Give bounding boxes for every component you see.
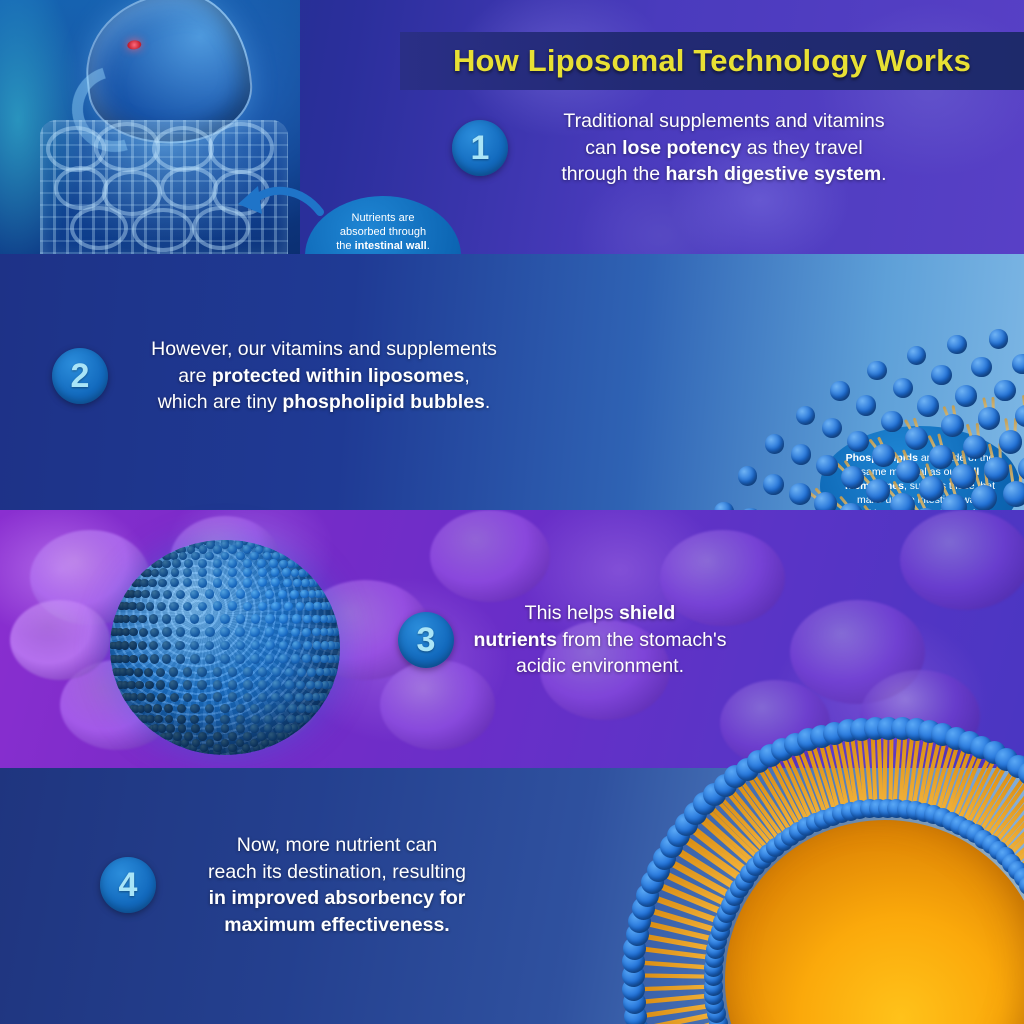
liposome-bead (138, 641, 147, 650)
callout-intestinal-wall-text: Nutrients areabsorbed throughthe intesti… (336, 211, 430, 254)
phospholipid-head (947, 335, 966, 354)
liposome-bead (205, 654, 215, 664)
liposome-bead (170, 693, 179, 702)
callout-intestinal-wall: Nutrients areabsorbed throughthe intesti… (305, 196, 461, 254)
liposome-bead (251, 641, 261, 651)
liposome-bead (162, 641, 171, 650)
liposome-bead (300, 590, 309, 599)
phospholipid-head (822, 418, 843, 439)
liposome-bead (213, 732, 222, 741)
liposome-bead (129, 628, 138, 637)
liposome-bead (213, 559, 222, 568)
liposome-bead (312, 655, 321, 664)
liposome-bead (301, 579, 309, 587)
liposome-bead (129, 655, 138, 664)
liposome-bead (272, 667, 281, 676)
blood-cell (10, 600, 110, 680)
liposome-bead (228, 692, 237, 701)
liposome-bead (302, 628, 311, 637)
liposome-bead (176, 627, 185, 636)
liposome-bead (295, 715, 303, 723)
liposome-bead (264, 724, 273, 733)
liposome-bead (183, 680, 192, 689)
liposome-bead (265, 654, 275, 664)
liposome-bead (258, 602, 267, 611)
liposome-bead (205, 552, 214, 561)
phospholipid-head (1003, 481, 1024, 507)
liposome-bead (183, 667, 193, 677)
phospholipid-head (847, 431, 869, 453)
liposome-bead (169, 680, 178, 689)
liposome-bead (134, 668, 143, 677)
liposome-bead (183, 693, 192, 702)
phospholipid-head (929, 445, 953, 469)
liposome-bead (278, 627, 287, 636)
liposome-bead (243, 578, 252, 587)
phospholipid-head (765, 434, 784, 453)
liposome-bead (312, 615, 321, 624)
blood-cell (430, 510, 550, 602)
liposome-bead (268, 732, 276, 740)
liposome-bead (178, 724, 187, 733)
liposome-bead (304, 693, 313, 702)
liposome-bead (271, 602, 280, 611)
liposome-bead (220, 654, 230, 664)
liposome-bead (293, 579, 302, 588)
phospholipid-head (872, 444, 895, 467)
liposome-bead (228, 667, 238, 677)
liposome-bead (277, 715, 286, 724)
liposome-bead (287, 715, 295, 723)
liposome-bead (213, 744, 221, 752)
liposome-bead (283, 579, 292, 588)
liposome-bead (184, 559, 193, 568)
liposome-bead (176, 654, 186, 664)
liposome-bead (321, 641, 330, 650)
liposome-bead (236, 614, 246, 624)
liposome-bead (257, 559, 266, 568)
liposome-bead (235, 627, 245, 637)
liposome-bead (135, 681, 144, 690)
liposome-bead (284, 693, 293, 702)
liposome-bead (264, 715, 273, 724)
liposome-bead (243, 559, 252, 568)
liposome-bead (282, 568, 291, 577)
liposome-bead (190, 641, 200, 651)
liposome-bead (220, 704, 229, 713)
phospholipid-head (971, 357, 992, 378)
phospholipid-head (856, 395, 877, 416)
liposome-bead (158, 724, 166, 732)
liposome-bead (146, 693, 155, 702)
liposome-bead (190, 704, 199, 713)
liposome-bead (291, 628, 300, 637)
phospholipid-head (999, 430, 1023, 454)
liposome-bead (258, 680, 267, 689)
liposome-bead (149, 614, 158, 623)
liposome-bead (243, 667, 253, 677)
liposome-bead (228, 559, 237, 568)
liposome-bead (306, 681, 315, 690)
liposome-bead (213, 680, 223, 690)
liposome-bead (175, 641, 185, 651)
liposome-bead (150, 628, 159, 637)
liposome-bead (205, 715, 214, 724)
liposome-bead (156, 680, 165, 689)
phospholipid-tail (639, 974, 713, 979)
liposome-bead (198, 559, 207, 568)
liposome-bead (228, 601, 238, 611)
liposome-bead (156, 668, 165, 677)
phospholipid-head (881, 411, 903, 433)
liposome-bead (205, 724, 214, 733)
liposome-bead (264, 704, 273, 713)
liposome-bead (236, 641, 246, 651)
liposome-bead (121, 641, 130, 650)
step-4-number: 4 (100, 857, 156, 913)
phospholipid-head (917, 395, 939, 417)
liposome-sphere-illustration (110, 540, 340, 755)
liposome-bead (198, 693, 207, 702)
step-1-text: Traditional supplements and vitaminscan … (526, 108, 922, 188)
step-4: 4 Now, more nutrient canreach its destin… (100, 832, 500, 938)
liposome-bead (236, 724, 245, 733)
phospholipid-head (893, 378, 914, 399)
liposome-bead (198, 578, 207, 587)
liposome-bead (277, 704, 286, 713)
liposome-bead (297, 668, 306, 677)
liposome-bead (169, 667, 178, 676)
liposome-bead (163, 590, 172, 599)
phospholipid-head (931, 365, 952, 386)
phospholipid-head (867, 361, 886, 380)
liposome-bead (243, 732, 252, 741)
phospholipid-head (984, 457, 1009, 482)
liposome-bead (236, 715, 245, 724)
liposome-bead (279, 614, 288, 623)
phospholipid-head (907, 346, 926, 365)
liposome-bead (250, 704, 259, 713)
liposome-bead (165, 715, 174, 724)
liposome-bead (190, 614, 200, 624)
liposome-bead (213, 601, 223, 611)
liposome-bead (288, 704, 297, 713)
liposome-bead (220, 641, 230, 651)
liposome-bead (258, 568, 267, 577)
liposome-bead (190, 590, 199, 599)
liposome-bead (228, 578, 237, 587)
liposome-bead (162, 654, 171, 663)
phospholipid-head (740, 508, 761, 510)
liposome-bead (158, 579, 167, 588)
liposome-bead (169, 602, 178, 611)
liposome-bead (284, 724, 292, 732)
liposome-bead (198, 568, 207, 577)
liposome-bead (138, 615, 147, 624)
liposome-bead (157, 602, 166, 611)
liposome-bead (166, 724, 174, 732)
liposome-bead (265, 627, 274, 636)
liposome-bead (228, 732, 237, 741)
liposome-bead (275, 724, 283, 732)
phospholipid-head (830, 381, 849, 400)
liposome-bead (213, 692, 222, 701)
step-1-number: 1 (452, 120, 508, 176)
liposome-bead (298, 704, 306, 712)
blood-cell (900, 510, 1024, 610)
liposome-bead (205, 641, 215, 651)
liposome-bead (149, 641, 158, 650)
phospholipid-head (714, 502, 733, 510)
step-3-number: 3 (398, 612, 454, 668)
liposome-bead (236, 589, 245, 598)
liposome-bead (177, 704, 186, 713)
liposome-bead (184, 732, 192, 740)
liposome-bead (243, 693, 252, 702)
liposome-bead (303, 615, 312, 624)
liposome-bead (251, 715, 260, 724)
phospholipid-head (971, 485, 997, 510)
liposome-bead (162, 614, 171, 623)
phospholipid-tail (639, 984, 713, 991)
liposome-bead (279, 560, 287, 568)
liposome-bead (213, 545, 221, 553)
liposome-bead (228, 744, 236, 752)
phospholipid-head (963, 435, 987, 459)
liposome-bead (213, 568, 222, 577)
liposome-bead (314, 681, 322, 689)
step-2-text: However, our vitamins and supplementsare… (126, 336, 522, 416)
liposome-bead (295, 693, 304, 702)
liposome-bead (220, 589, 229, 598)
liposome-bead (139, 628, 148, 637)
liposome-bead (192, 739, 200, 747)
liposome-bead (287, 560, 295, 568)
liposome-bead (265, 641, 275, 651)
liposome-bead (228, 680, 238, 690)
phospholipid-head (978, 407, 1001, 430)
liposome-bead (157, 693, 166, 702)
step-2-number: 2 (52, 348, 108, 404)
liposome-bead (159, 568, 168, 577)
liposome-bead (183, 602, 192, 611)
phospholipid-head (796, 406, 815, 425)
phospholipid-head (989, 329, 1008, 348)
liposome-bead (176, 590, 185, 599)
liposome-bead (153, 704, 162, 713)
liposome-bead (307, 668, 316, 677)
step-3-text: This helps shieldnutrients from the stom… (472, 600, 728, 680)
liposome-bead (205, 614, 215, 624)
liposome-bead (144, 668, 153, 677)
liposome-bead (198, 602, 207, 611)
phospholipid-head (890, 493, 915, 510)
liposome-bead (250, 627, 260, 637)
absorption-arrow-icon (232, 182, 324, 230)
liposome-bead (302, 654, 311, 663)
phospholipid-head (951, 464, 976, 489)
page-title-bar: How Liposomal Technology Works (400, 32, 1024, 90)
liposome-bead (250, 552, 258, 560)
liposome-bead (190, 715, 199, 724)
liposome-bead (271, 578, 280, 587)
liposome-bead (164, 704, 173, 713)
phospholipid-head (738, 466, 757, 485)
liposome-bead (279, 641, 288, 650)
liposome-bead (290, 590, 299, 599)
liposome-bead (183, 578, 192, 587)
liposome-cross-section-illustration (520, 690, 1024, 1024)
liposome-bead (137, 693, 146, 702)
liposome-bead (284, 602, 293, 611)
liposome-bead (265, 614, 274, 623)
phospholipid-head (763, 474, 784, 495)
liposome-bead (205, 627, 215, 637)
liposome-bead (251, 614, 261, 624)
liposome-bead (170, 578, 179, 587)
phospholipid-tail (639, 960, 713, 969)
liposome-bead (173, 732, 181, 740)
liposome-bead (141, 590, 150, 599)
liposome-bead (162, 560, 170, 568)
liposome-bead (220, 614, 230, 624)
liposome-bead (285, 680, 294, 689)
liposome-bead (228, 568, 237, 577)
phospholipid-head (941, 414, 964, 437)
phospholipid-head (866, 479, 890, 503)
liposome-bead (220, 715, 229, 724)
liposome-bead (269, 559, 278, 568)
liposome-bead (251, 590, 260, 599)
liposome-bead (258, 693, 267, 702)
liposome-bead (296, 681, 305, 690)
liposome-bead (292, 641, 301, 650)
liposome-bead (190, 627, 200, 637)
liposome-bead (144, 704, 152, 712)
liposome-bead (162, 627, 171, 636)
liposome-bead (243, 680, 253, 690)
liposome-bead (221, 724, 230, 733)
liposome-bead (296, 602, 305, 611)
liposome-bead (243, 568, 252, 577)
step-4-text: Now, more nutrient canreach its destinat… (174, 832, 500, 938)
step-2: 2 However, our vitamins and supplementsa… (52, 336, 522, 416)
phospholipid-tail (883, 731, 888, 805)
liposome-bead (243, 602, 252, 611)
liposome-bead (313, 641, 322, 650)
liposome-bead (236, 552, 245, 561)
liposome-bead (278, 590, 287, 599)
phospholipid-head (905, 427, 928, 450)
liposome-bead (235, 654, 245, 664)
liposome-bead (285, 668, 294, 677)
liposome-bead (126, 668, 135, 677)
infographic-root: Nutrients areabsorbed throughthe intesti… (0, 0, 1024, 1024)
phospholipid-head (789, 483, 811, 505)
liposome-bead (258, 667, 268, 677)
phospholipid-head (955, 385, 977, 407)
liposome-bead (197, 667, 207, 677)
liposome-bead (279, 654, 288, 663)
liposome-bead (190, 654, 200, 664)
liposome-bead (221, 552, 230, 561)
liposome-bead (151, 569, 159, 577)
liposome-bead (205, 704, 214, 713)
liposome-bead (213, 667, 223, 677)
liposome-bead (129, 615, 138, 624)
liposome-bead (145, 681, 154, 690)
liposome-bead (271, 568, 280, 577)
liposome-bead (292, 614, 301, 623)
liposome-bead (312, 628, 321, 637)
liposome-bead (129, 641, 138, 650)
liposome-bead (220, 627, 230, 637)
phospholipid-head (994, 380, 1016, 402)
liposome-bead (250, 724, 259, 733)
liposome-bead (271, 693, 280, 702)
liposome-bead (265, 590, 274, 599)
phospholipid-head (814, 492, 837, 510)
liposome-bead (175, 614, 184, 623)
page-title: How Liposomal Technology Works (453, 43, 971, 79)
liposome-bead (183, 568, 192, 577)
liposome-bead (136, 602, 145, 611)
step-3: 3 This helps shieldnutrients from the st… (398, 600, 728, 680)
liposome-bead (236, 704, 245, 713)
liposome-bead (250, 654, 260, 664)
liposome-bead (228, 545, 236, 553)
step-1: 1 Traditional supplements and vitaminsca… (452, 108, 922, 188)
liposome-bead (172, 559, 181, 568)
liposome-bead (272, 680, 281, 689)
liposome-bead (139, 654, 148, 663)
liposome-bead (148, 579, 157, 588)
liposome-bead (303, 641, 312, 650)
liposome-bead (258, 578, 267, 587)
liposome-bead (198, 732, 207, 741)
liposome-bead (151, 590, 160, 599)
liposome-bead (154, 715, 162, 723)
liposome-bead (146, 602, 155, 611)
liposome-bead (171, 568, 180, 577)
liposome-bead (177, 715, 186, 724)
liposome-bead (150, 654, 159, 663)
phospholipid-head (791, 444, 812, 465)
liposome-bead (197, 680, 207, 690)
liposome-bead (291, 654, 300, 663)
liposome-bead (305, 602, 314, 611)
liposome-bead (320, 655, 329, 664)
liposome-bead (205, 589, 214, 598)
liposome-bead (213, 578, 222, 587)
phospholipid-head (1012, 354, 1024, 375)
liposome-bead (191, 724, 200, 733)
liposome-bead (191, 552, 199, 560)
liposome-bead (257, 732, 265, 740)
